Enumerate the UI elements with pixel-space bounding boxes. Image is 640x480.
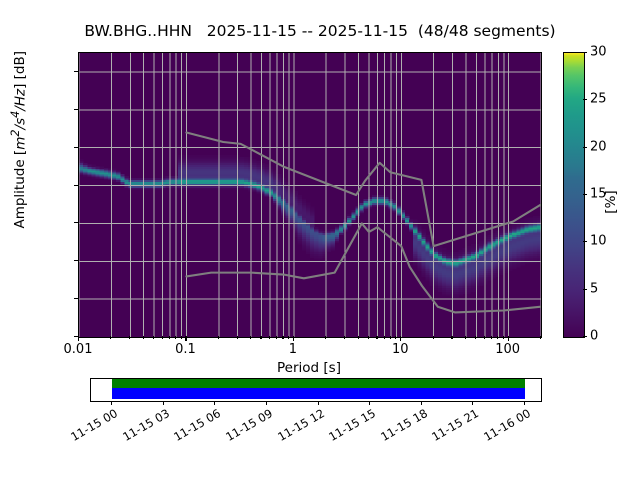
x-tick-mark-minor	[465, 336, 466, 339]
x-tick-mark-minor	[181, 336, 182, 339]
colorbar-tick-label: 20	[590, 139, 607, 154]
x-tick-mark-minor	[475, 336, 476, 339]
x-tick-mark-minor	[169, 336, 170, 339]
colorbar-tick-mark	[583, 99, 587, 100]
x-tick-mark-minor	[384, 336, 385, 339]
x-tick-mark-minor	[503, 336, 504, 339]
timeline-tick-mark	[369, 401, 370, 405]
x-tick-mark-minor	[260, 336, 261, 339]
colorbar-tick-label: 25	[590, 92, 607, 107]
timeline-tick-label: 11-15 15	[321, 406, 378, 447]
timeline-tick-mark	[163, 401, 164, 405]
x-tick-mark-minor	[451, 336, 452, 339]
figure-title: BW.BHG..HHN 2025-11-15 -- 2025-11-15 (48…	[0, 22, 640, 40]
colorbar-label: [%]	[603, 157, 619, 247]
x-tick-mark-minor	[433, 336, 434, 339]
x-tick-mark-minor	[269, 336, 270, 339]
colorbar-tick-mark	[583, 194, 587, 195]
timeline-tick-label: 11-15 03	[114, 406, 171, 447]
x-tick-mark-minor	[540, 336, 541, 339]
timeline-tick-label: 11-16 00	[476, 406, 533, 447]
x-tick-label: 1	[289, 342, 297, 357]
x-tick-mark-minor	[325, 336, 326, 339]
colorbar-tick-mark	[583, 289, 587, 290]
x-tick-label: 0.01	[64, 342, 93, 357]
x-tick-mark-minor	[484, 336, 485, 339]
colorbar-tick-label: 5	[590, 281, 598, 296]
x-tick-mark-minor	[288, 336, 289, 339]
x-tick-mark-major	[293, 336, 294, 341]
colorbar-tick-label: 0	[590, 329, 598, 344]
timeline-tick-mark	[472, 401, 473, 405]
x-tick-mark-major	[400, 336, 401, 341]
timeline-axes[interactable]	[90, 378, 542, 402]
y-tick-mark	[74, 336, 78, 337]
x-tick-mark-minor	[282, 336, 283, 339]
y-tick-mark	[74, 260, 78, 261]
gridlines	[79, 53, 541, 337]
timeline-tick-mark	[318, 401, 319, 405]
colorbar-tick-mark	[583, 147, 587, 148]
x-tick-mark-minor	[218, 336, 219, 339]
x-tick-mark-minor	[376, 336, 377, 339]
timeline-tick-label: 11-15 18	[373, 406, 430, 447]
x-tick-mark-minor	[358, 336, 359, 339]
x-tick-mark-minor	[276, 336, 277, 339]
timeline-tick-mark	[111, 401, 112, 405]
y-tick-mark	[74, 109, 78, 110]
timeline-tick-label: 11-15 21	[424, 406, 481, 447]
timeline-tick-label: 11-15 09	[218, 406, 275, 447]
colorbar-tick-mark	[583, 52, 587, 53]
x-tick-mark-minor	[390, 336, 391, 339]
x-tick-mark-major	[185, 336, 186, 341]
y-tick-mark	[74, 298, 78, 299]
y-tick-mark	[74, 222, 78, 223]
x-tick-mark-minor	[162, 336, 163, 339]
x-tick-mark-minor	[143, 336, 144, 339]
colorbar-tick-mark	[583, 241, 587, 242]
x-tick-label: 0.1	[175, 342, 196, 357]
ppsd-density-canvas	[79, 53, 541, 337]
psd-segment-bar	[112, 388, 525, 399]
x-tick-mark-minor	[491, 336, 492, 339]
x-tick-mark-minor	[368, 336, 369, 339]
x-tick-mark-minor	[129, 336, 130, 339]
timeline-tick-mark	[421, 401, 422, 405]
colorbar-tick-mark	[583, 336, 587, 337]
plot-clip	[79, 53, 541, 337]
x-tick-mark-minor	[250, 336, 251, 339]
x-tick-mark-minor	[497, 336, 498, 339]
x-axis-label: Period [s]	[78, 360, 540, 376]
y-axis-label: Amplitude [m2/s4/Hz] [dB]	[8, 0, 28, 420]
x-tick-mark-major	[508, 336, 509, 341]
timeline-tick-mark	[266, 401, 267, 405]
x-tick-label: 10	[392, 342, 409, 357]
data-coverage-bar	[112, 379, 525, 388]
x-tick-mark-minor	[110, 336, 111, 339]
y-tick-mark	[74, 71, 78, 72]
timeline-tick-mark	[524, 401, 525, 405]
y-tick-mark	[74, 185, 78, 186]
ppsd-plot-area[interactable]	[78, 52, 542, 338]
y-tick-mark	[74, 147, 78, 148]
colorbar	[563, 52, 585, 338]
x-tick-mark-minor	[344, 336, 345, 339]
colorbar-tick-label: 30	[590, 45, 607, 60]
timeline-tick-label: 11-15 00	[63, 406, 120, 447]
x-tick-mark-minor	[175, 336, 176, 339]
timeline-tick-label: 11-15 06	[166, 406, 223, 447]
timeline-tick-mark	[214, 401, 215, 405]
x-tick-label: 100	[495, 342, 520, 357]
x-tick-mark-minor	[153, 336, 154, 339]
timeline-tick-label: 11-15 12	[269, 406, 326, 447]
x-tick-mark-minor	[395, 336, 396, 339]
x-tick-mark-minor	[237, 336, 238, 339]
ppsd-figure: BW.BHG..HHN 2025-11-15 -- 2025-11-15 (48…	[0, 0, 640, 480]
x-tick-mark-major	[78, 336, 79, 341]
